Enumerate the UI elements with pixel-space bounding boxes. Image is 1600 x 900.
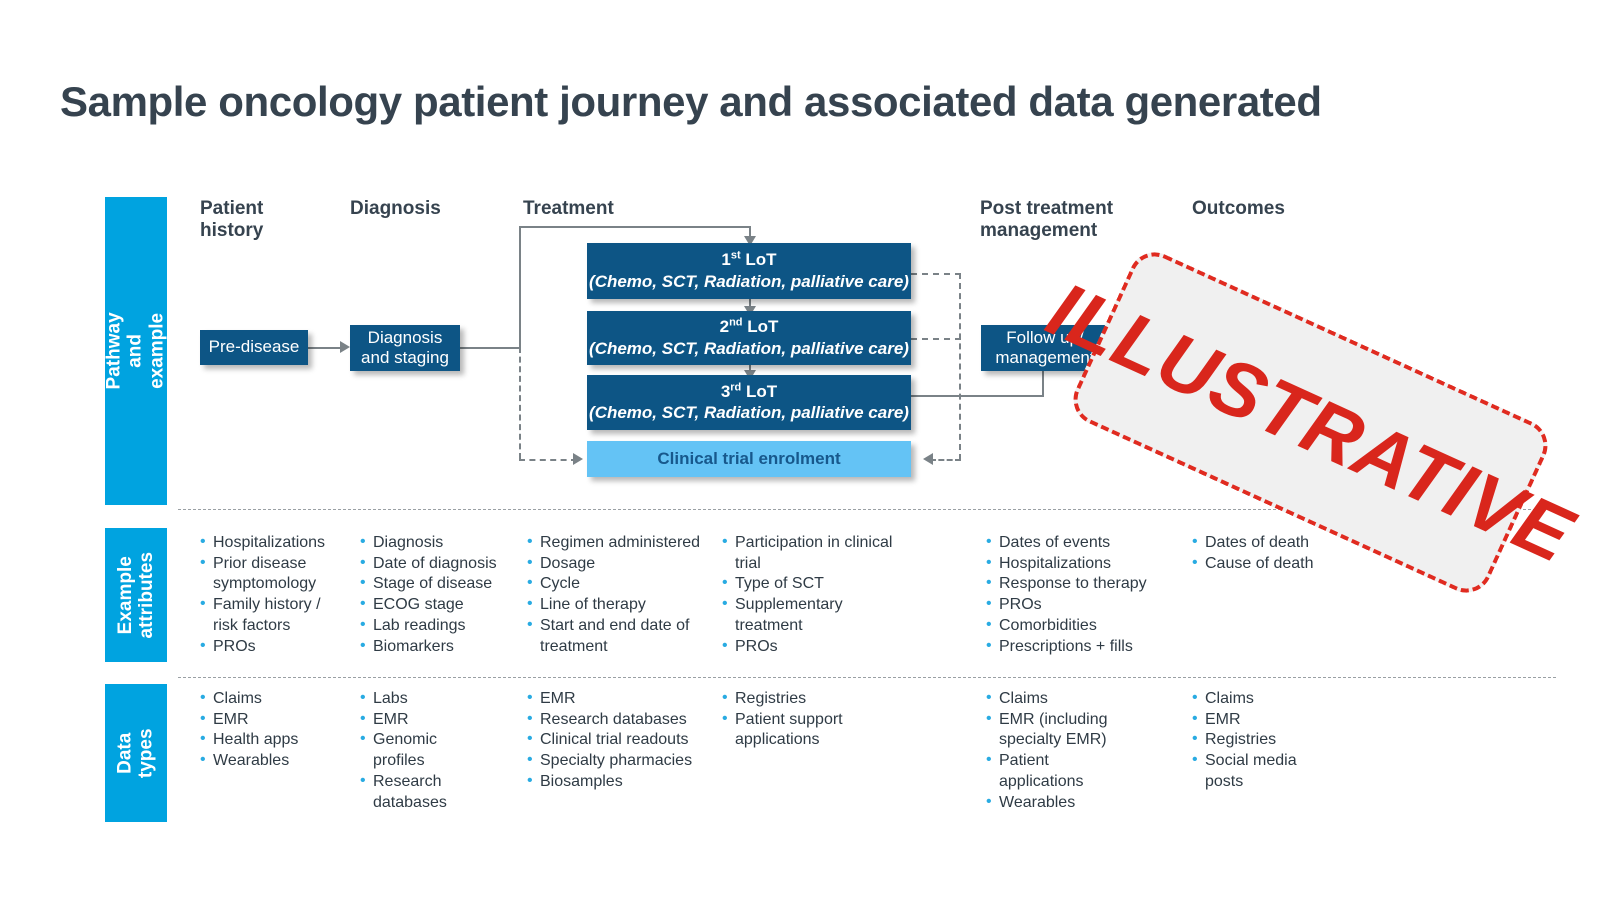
connector-diagnosis-right (459, 347, 521, 349)
list-item: Research databases (527, 710, 717, 731)
list-item: Biosamples (527, 772, 717, 793)
attributes-list-treatment-a: Regimen administered Dosage Cycle Line o… (527, 533, 709, 657)
datatypes-list-patient-history: Claims EMR Health apps Wearables (200, 689, 350, 772)
dashed-connector-right-rail (959, 273, 961, 460)
attributes-list-post-treatment: Dates of events Hospitalizations Respons… (986, 533, 1171, 657)
arrowhead-into-clinical-trial-right (923, 453, 933, 465)
list-item: Hospitalizations (200, 533, 348, 554)
datatypes-list-outcomes: Claims EMR Registries Social media posts (1192, 689, 1317, 793)
dashed-connector-left-rail (519, 347, 521, 459)
list-item: Registries (1192, 730, 1317, 751)
connector-diagnosis-up (519, 226, 521, 348)
list-item: Cycle (527, 574, 709, 595)
datatypes-list-treatment-a: EMR Research databases Clinical trial re… (527, 689, 717, 793)
box-3rd-lot-subtitle: (Chemo, SCT, Radiation, palliative care) (589, 402, 909, 424)
arrowhead-into-clinical-trial-left (573, 453, 583, 465)
row-label-pathway-text: Pathway and example (104, 312, 168, 389)
page-title: Sample oncology patient journey and asso… (60, 78, 1322, 126)
box-pre-disease[interactable]: Pre-disease (200, 330, 308, 365)
list-item: Comorbidities (986, 616, 1171, 637)
row-label-attributes-text: Example attributes (115, 552, 158, 639)
attributes-list-patient-history: Hospitalizations Prior disease symptomol… (200, 533, 348, 657)
column-heading-diagnosis: Diagnosis (350, 198, 441, 220)
list-item: Social media posts (1192, 751, 1317, 792)
list-item: Claims (1192, 689, 1317, 710)
list-item: PROs (200, 637, 348, 658)
list-item: Wearables (986, 793, 1116, 814)
box-clinical-trial-enrolment[interactable]: Clinical trial enrolment (587, 441, 911, 477)
list-item: Labs (360, 689, 460, 710)
list-item: Patient applications (986, 751, 1116, 792)
list-item: Date of diagnosis (360, 554, 515, 575)
list-item: Lab readings (360, 616, 515, 637)
box-2nd-lot[interactable]: 2nd LoT (Chemo, SCT, Radiation, palliati… (587, 311, 911, 365)
slide-canvas: Sample oncology patient journey and asso… (0, 0, 1600, 900)
list-item: EMR (360, 710, 460, 731)
row-label-pathway-and-example: Pathway and example (105, 197, 167, 505)
list-item: EMR (527, 689, 717, 710)
list-item: Prior disease symptomology (200, 554, 348, 595)
list-item: Biomarkers (360, 637, 515, 658)
dashed-connector-1st-lot-right (911, 273, 961, 275)
list-item: Dosage (527, 554, 709, 575)
attributes-list-diagnosis: Diagnosis Date of diagnosis Stage of dis… (360, 533, 515, 657)
list-item: Diagnosis (360, 533, 515, 554)
list-item: Participation in clinical trial (722, 533, 898, 574)
list-item: Line of therapy (527, 595, 709, 616)
attributes-list-treatment-b: Participation in clinical trial Type of … (722, 533, 898, 657)
list-item: Genomic profiles (360, 730, 460, 771)
list-item: EMR (1192, 710, 1317, 731)
arrowhead-to-diagnosis (340, 341, 350, 353)
list-item: Specialty pharmacies (527, 751, 717, 772)
box-3rd-lot[interactable]: 3rd LoT (Chemo, SCT, Radiation, palliati… (587, 375, 911, 430)
list-item: Claims (986, 689, 1116, 710)
box-1st-lot-subtitle: (Chemo, SCT, Radiation, palliative care) (589, 271, 909, 293)
column-heading-outcomes: Outcomes (1192, 198, 1285, 220)
list-item: Registries (722, 689, 872, 710)
row-label-example-attributes: Example attributes (105, 528, 167, 662)
list-item: EMR (including specialty EMR) (986, 710, 1116, 751)
list-item: Health apps (200, 730, 350, 751)
connector-top-to-1st-lot (519, 226, 751, 228)
box-diagnosis-and-staging-label: Diagnosis and staging (361, 328, 449, 369)
dashed-connector-into-clinical-trial (519, 459, 577, 461)
list-item: Claims (200, 689, 350, 710)
box-1st-lot-title: 1st LoT (721, 249, 776, 270)
datatypes-list-diagnosis: Labs EMR Genomic profiles Research datab… (360, 689, 460, 813)
column-heading-patient-history: Patient history (200, 198, 263, 242)
box-3rd-lot-title: 3rd LoT (721, 381, 777, 402)
column-heading-post-treatment: Post treatment management (980, 198, 1113, 242)
list-item: Response to therapy (986, 574, 1171, 595)
list-item: PROs (986, 595, 1171, 616)
list-item: Wearables (200, 751, 350, 772)
attributes-list-outcomes: Dates of death Cause of death (1192, 533, 1362, 574)
box-diagnosis-and-staging[interactable]: Diagnosis and staging (350, 325, 460, 371)
box-2nd-lot-title: 2nd LoT (720, 316, 779, 337)
column-heading-treatment: Treatment (523, 198, 614, 220)
list-item: Dates of events (986, 533, 1171, 554)
datatypes-list-treatment-b: Registries Patient support applications (722, 689, 872, 751)
connector-3rd-lot-to-followup (911, 395, 1044, 397)
box-2nd-lot-subtitle: (Chemo, SCT, Radiation, palliative care) (589, 338, 909, 360)
dashed-connector-2nd-lot-right (911, 338, 961, 340)
list-item: Prescriptions + fills (986, 637, 1171, 658)
box-1st-lot[interactable]: 1st LoT (Chemo, SCT, Radiation, palliati… (587, 243, 911, 299)
list-item: Type of SCT (722, 574, 898, 595)
row-label-data-types: Data types (105, 684, 167, 822)
list-item: EMR (200, 710, 350, 731)
list-item: Family history / risk factors (200, 595, 348, 636)
datatypes-list-post-treatment: Claims EMR (including specialty EMR) Pat… (986, 689, 1116, 813)
list-item: ECOG stage (360, 595, 515, 616)
box-clinical-trial-label: Clinical trial enrolment (657, 449, 840, 469)
list-item: Research databases (360, 772, 460, 813)
list-item: Cause of death (1192, 554, 1362, 575)
list-item: Hospitalizations (986, 554, 1171, 575)
list-item: PROs (722, 637, 898, 658)
list-item: Clinical trial readouts (527, 730, 717, 751)
box-pre-disease-label: Pre-disease (209, 337, 300, 357)
list-item: Start and end date of treatment (527, 616, 709, 657)
list-item: Patient support applications (722, 710, 872, 751)
connector-predisease-to-diagnosis (308, 347, 342, 349)
row-label-data-types-text: Data types (115, 728, 158, 778)
list-item: Regimen administered (527, 533, 709, 554)
list-item: Supplementary treatment (722, 595, 898, 636)
list-item: Stage of disease (360, 574, 515, 595)
separator-attributes-datatypes (178, 677, 1556, 678)
dashed-connector-back-to-clinical-trial (930, 459, 961, 461)
